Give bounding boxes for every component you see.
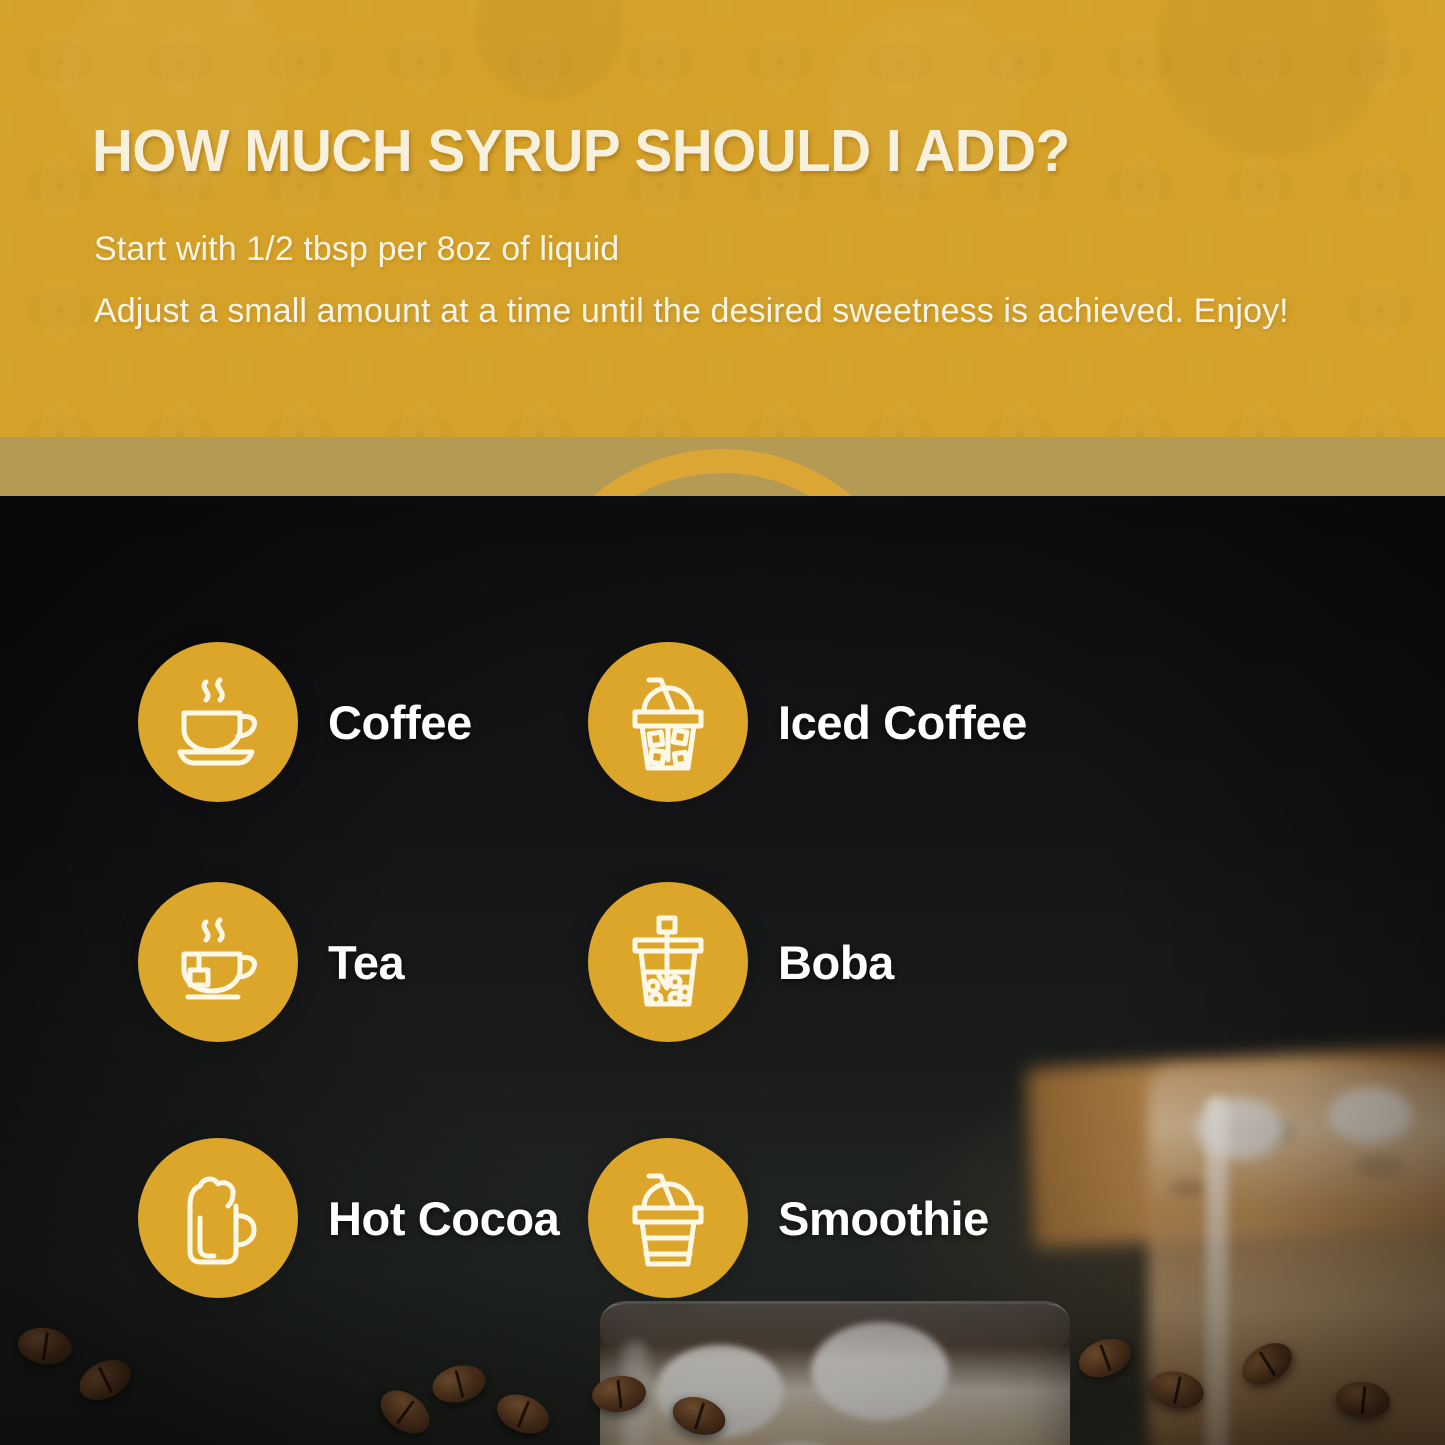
- drink-type-list: Coffee Iced Coffee: [0, 0, 1445, 1445]
- promo-infographic: HOW MUCH SYRUP SHOULD I ADD? Start with …: [0, 0, 1445, 1445]
- teacup-icon: [138, 882, 298, 1042]
- drink-label: Iced Coffee: [778, 695, 1027, 750]
- drink-item-coffee[interactable]: Coffee: [138, 642, 472, 802]
- drink-label: Smoothie: [778, 1191, 989, 1246]
- drink-item-smoothie[interactable]: Smoothie: [588, 1138, 989, 1298]
- smoothie-cup-icon: [588, 1138, 748, 1298]
- drink-item-tea[interactable]: Tea: [138, 882, 404, 1042]
- drink-item-hot-cocoa[interactable]: Hot Cocoa: [138, 1138, 559, 1298]
- drink-label: Hot Cocoa: [328, 1191, 559, 1246]
- drink-item-iced-coffee[interactable]: Iced Coffee: [588, 642, 1027, 802]
- drink-label: Boba: [778, 935, 894, 990]
- cocoa-mug-icon: [138, 1138, 298, 1298]
- coffee-cup-icon: [138, 642, 298, 802]
- drink-item-boba[interactable]: Boba: [588, 882, 894, 1042]
- drink-label: Tea: [328, 935, 404, 990]
- boba-cup-icon: [588, 882, 748, 1042]
- iced-coffee-cup-icon: [588, 642, 748, 802]
- drink-label: Coffee: [328, 695, 472, 750]
